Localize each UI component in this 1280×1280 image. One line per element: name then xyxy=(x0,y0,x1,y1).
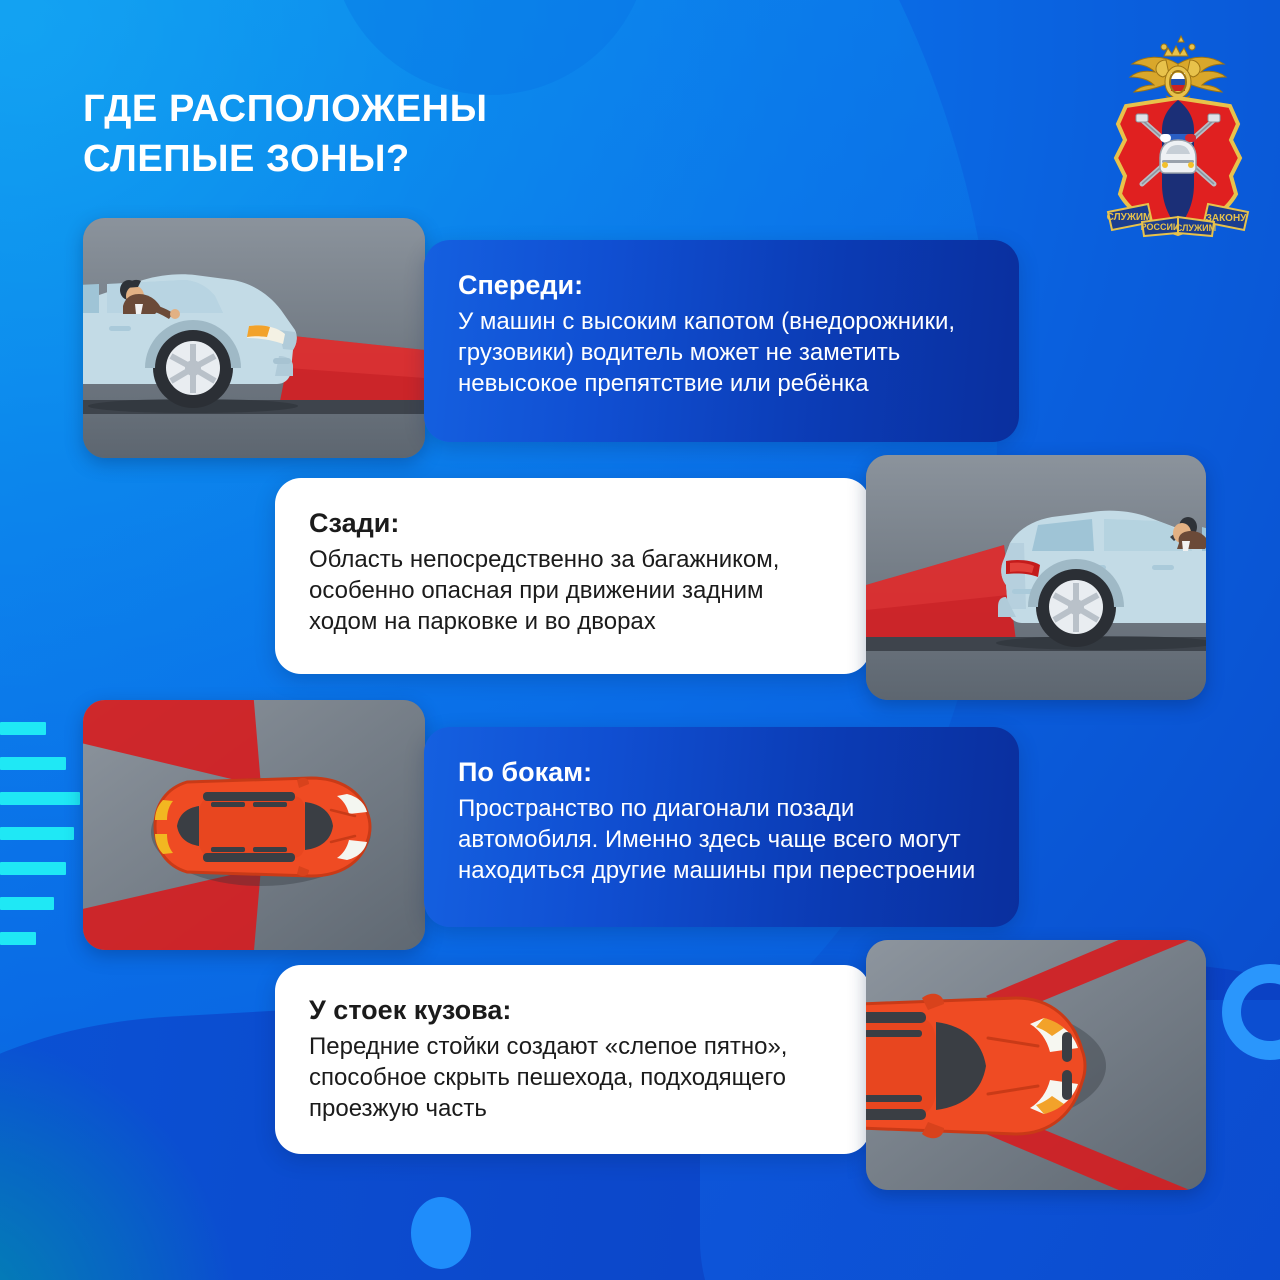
emblem-motto-center-right: СЛУЖИМ xyxy=(1176,223,1216,233)
card-pillars-heading: У стоек кузова: xyxy=(309,993,836,1027)
background-circle-accent xyxy=(411,1197,471,1269)
dash-2 xyxy=(0,757,66,770)
card-rear: Сзади: Область непосредственно за багажн… xyxy=(275,478,870,674)
car-top-view-pillar-blind-zones-image xyxy=(866,940,1206,1190)
card-sides-heading: По бокам: xyxy=(458,755,985,789)
card-sides: По бокам: Пространство по диагонали поза… xyxy=(424,727,1019,927)
card-front: Спереди: У машин с высоким капотом (внед… xyxy=(424,240,1019,442)
emblem-motto-right: ЗАКОНУ xyxy=(1206,213,1248,224)
card-rear-heading: Сзади: xyxy=(309,506,836,540)
mvd-russia-emblem-icon: СЛУЖИМ РОССИИ СЛУЖИМ ЗАКОНУ xyxy=(1092,34,1264,246)
card-rear-body: Область непосредственно за багажником, о… xyxy=(309,544,836,637)
card-pillars: У стоек кузова: Передние стойки создают … xyxy=(275,965,870,1154)
card-front-heading: Спереди: xyxy=(458,268,985,302)
dash-4 xyxy=(0,827,74,840)
background-dash-accent xyxy=(0,722,80,967)
dash-7 xyxy=(0,932,36,945)
car-side-view-rear-blind-zone-image xyxy=(866,455,1206,700)
page-title-line-2: СЛЕПЫЕ ЗОНЫ? xyxy=(83,134,488,184)
dash-3 xyxy=(0,792,80,805)
dash-6 xyxy=(0,897,54,910)
emblem-motto-center-left: РОССИИ xyxy=(1141,222,1180,232)
dash-1 xyxy=(0,722,46,735)
card-front-body: У машин с высоким капотом (внедорожники,… xyxy=(458,306,985,399)
car-side-view-front-blind-zone-image xyxy=(83,218,425,458)
card-pillars-body: Передние стойки создают «слепое пятно», … xyxy=(309,1031,836,1124)
page-title: ГДЕ РАСПОЛОЖЕНЫ СЛЕПЫЕ ЗОНЫ? xyxy=(83,84,488,184)
card-sides-body: Пространство по диагонали позади автомоб… xyxy=(458,793,985,886)
page-title-line-1: ГДЕ РАСПОЛОЖЕНЫ xyxy=(83,84,488,134)
car-top-view-side-blind-zones-image xyxy=(83,700,425,950)
dash-5 xyxy=(0,862,66,875)
